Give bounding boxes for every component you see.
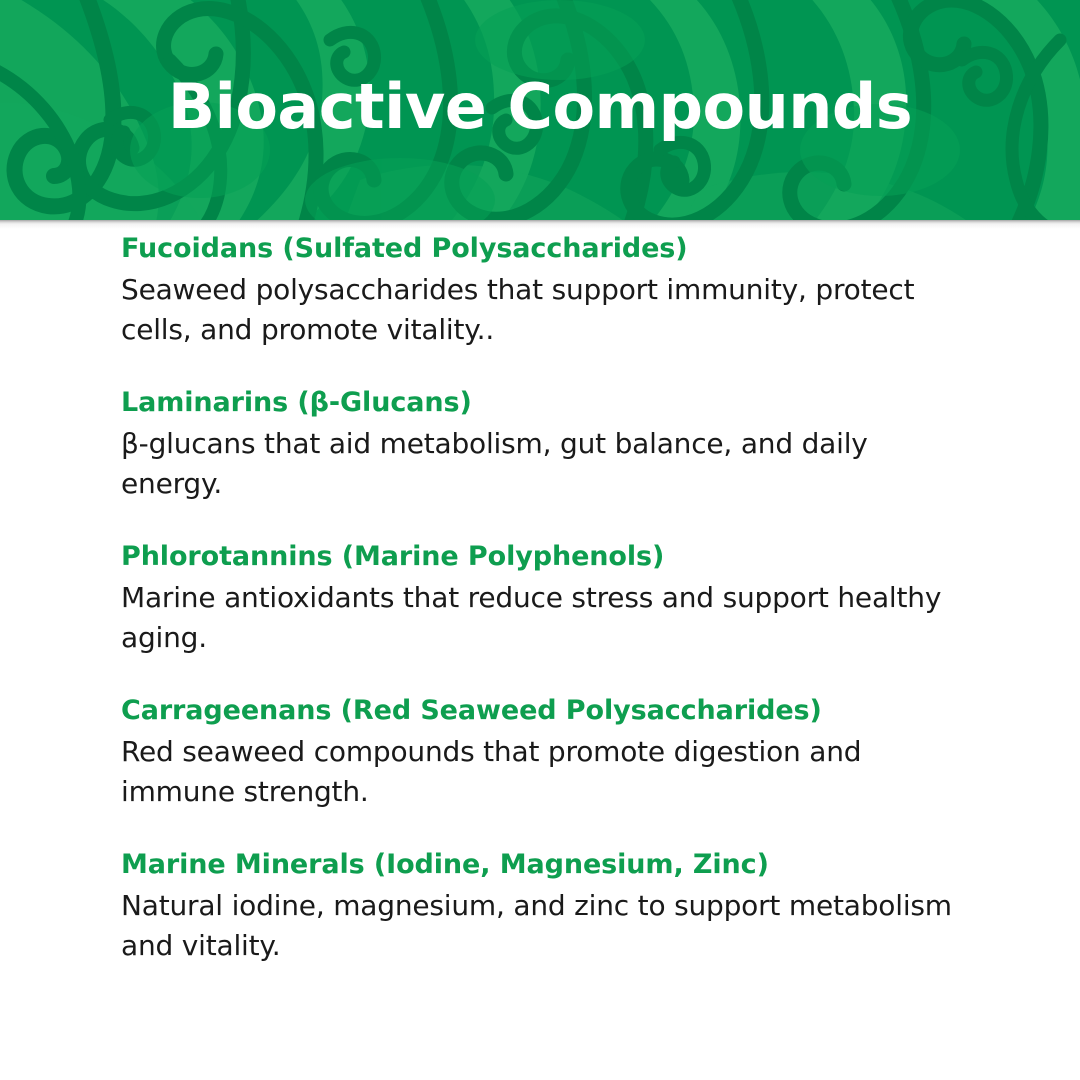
banner-bottom-shadow [0,220,1080,229]
compound-title: Fucoidans (Sulfated Polysaccharides) [121,229,980,269]
compound-title: Carrageenans (Red Seaweed Polysaccharide… [121,691,980,731]
compound-title: Marine Minerals (Iodine, Magnesium, Zinc… [121,845,980,885]
compound-description: Seaweed polysaccharides that support imm… [121,270,971,350]
page-title: Bioactive Compounds [0,0,1080,220]
compound-list: Fucoidans (Sulfated Polysaccharides) Sea… [0,229,1080,966]
list-item: Laminarins (β-Glucans) β-glucans that ai… [121,383,980,504]
slide-page: Bioactive Compounds Fucoidans (Sulfated … [0,0,1080,1080]
list-item: Marine Minerals (Iodine, Magnesium, Zinc… [121,845,980,966]
compound-title: Phlorotannins (Marine Polyphenols) [121,537,980,577]
list-item: Fucoidans (Sulfated Polysaccharides) Sea… [121,229,980,350]
header-banner: Bioactive Compounds [0,0,1080,220]
compound-description: β-glucans that aid metabolism, gut balan… [121,424,971,504]
list-item: Carrageenans (Red Seaweed Polysaccharide… [121,691,980,812]
compound-description: Marine antioxidants that reduce stress a… [121,578,971,658]
compound-description: Red seaweed compounds that promote diges… [121,732,971,812]
compound-title: Laminarins (β-Glucans) [121,383,980,423]
compound-description: Natural iodine, magnesium, and zinc to s… [121,886,971,966]
list-item: Phlorotannins (Marine Polyphenols) Marin… [121,537,980,658]
